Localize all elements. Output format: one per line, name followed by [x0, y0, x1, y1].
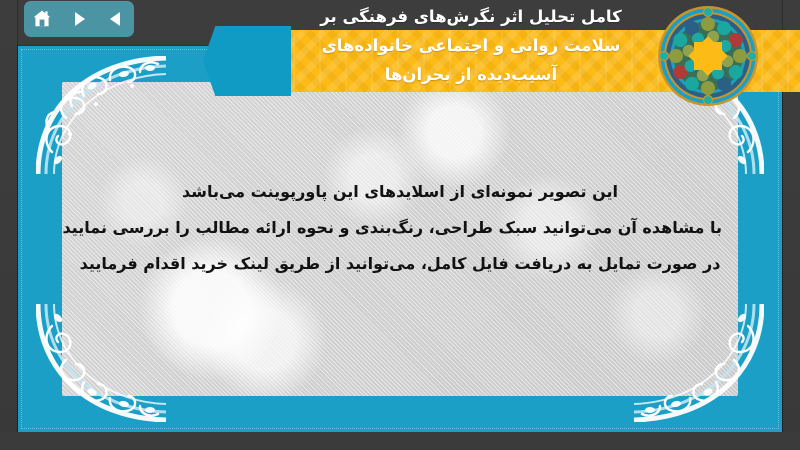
- footer-strip: [0, 432, 800, 450]
- next-slide-button[interactable]: [65, 5, 93, 33]
- home-icon: [32, 9, 52, 29]
- triangle-right-icon: [70, 10, 88, 28]
- mandala-rosette-icon: [656, 4, 760, 108]
- slide-viewer: کامل تحلیل اثر نگرش‌های فرهنگی بر سلامت …: [0, 0, 800, 450]
- navigation-bar: [24, 1, 134, 37]
- banner-pointer: [203, 26, 291, 96]
- previous-slide-button[interactable]: [102, 5, 130, 33]
- home-button[interactable]: [28, 5, 56, 33]
- title-line-1: کامل تحلیل اثر نگرش‌های فرهنگی بر: [250, 2, 692, 31]
- slide-content-panel: [62, 82, 738, 396]
- triangle-left-icon: [107, 10, 125, 28]
